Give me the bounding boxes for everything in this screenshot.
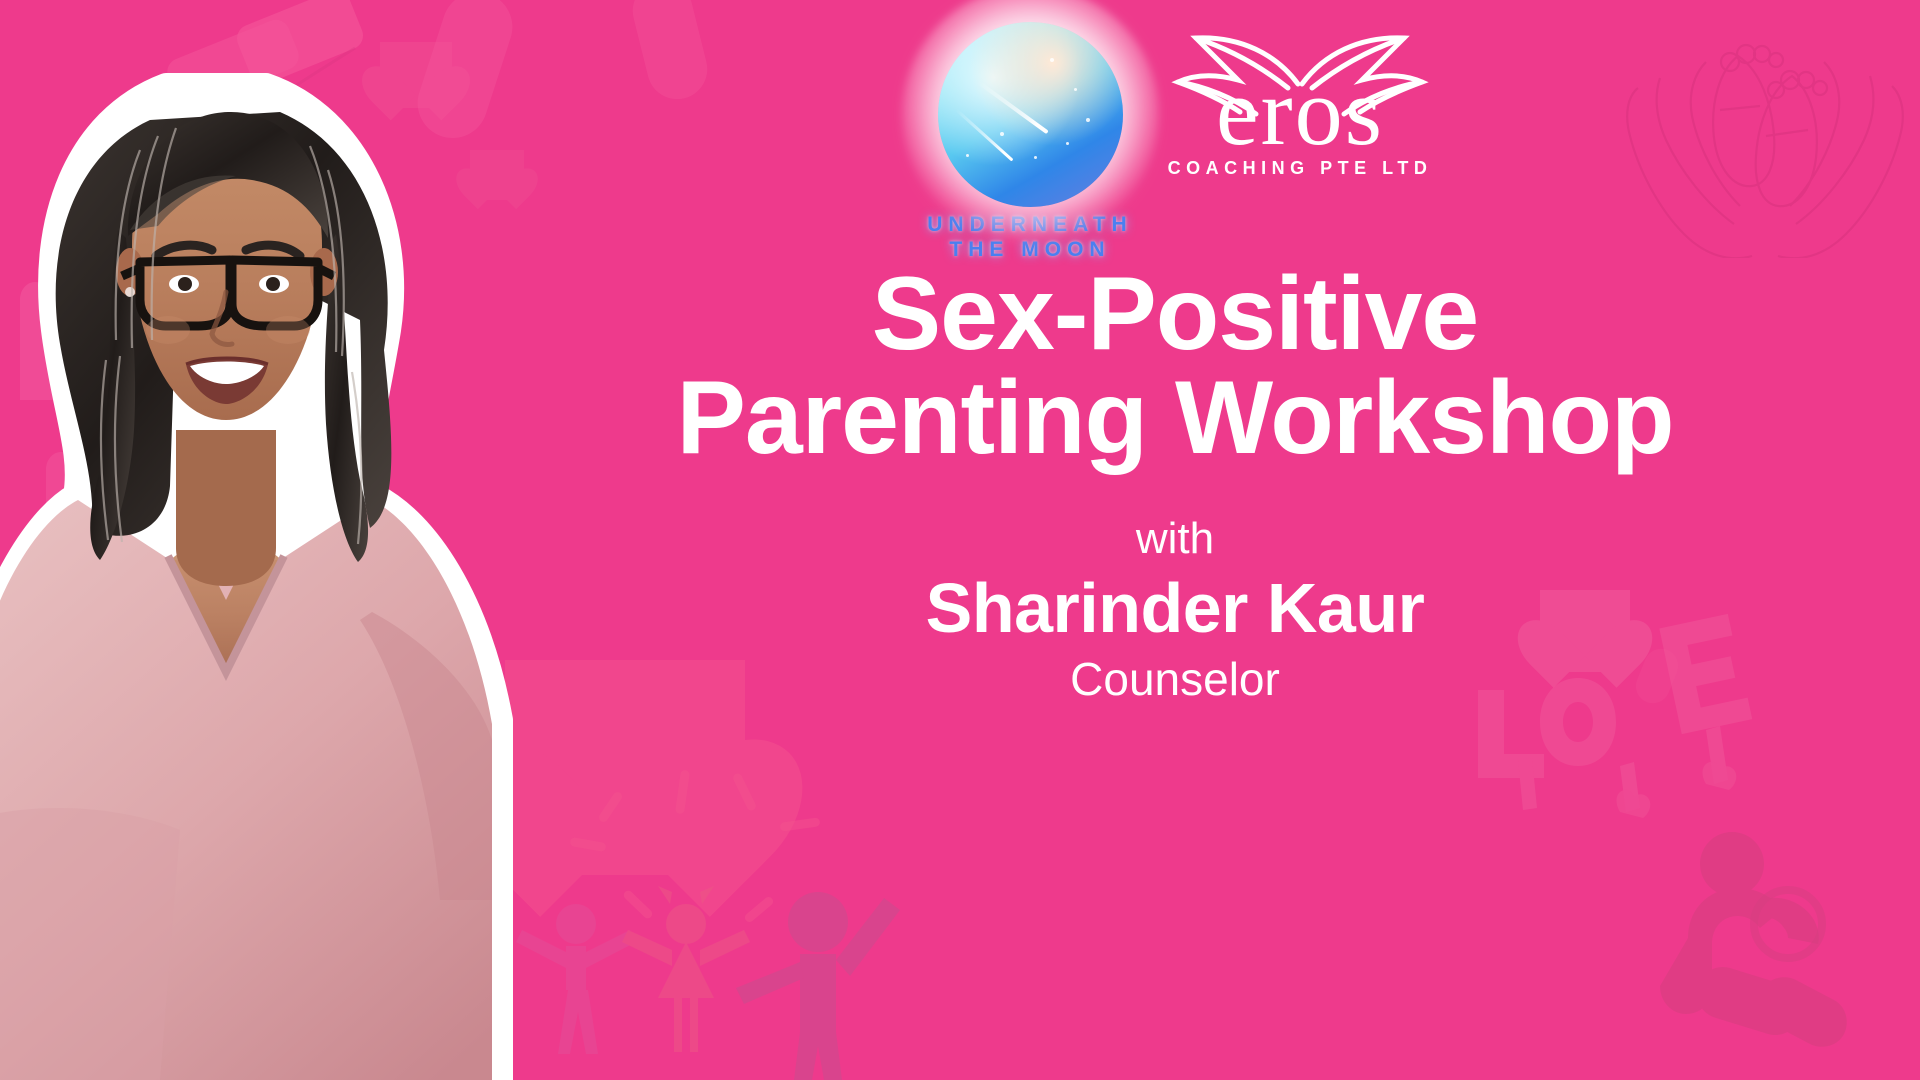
page-title: Sex-Positive Parenting Workshop [430,262,1920,470]
family-silhouette-icon [500,880,980,1080]
hands-cradling-baby-feet-icon [1610,18,1920,258]
with-label: with [430,514,1920,564]
angel-wings-icon [1130,28,1470,148]
parent-holding-child-icon [1658,828,1908,1058]
eros-coaching-logo: eros COACHING PTE LTD [1130,28,1470,179]
main-text-block: Sex-Positive Parenting Workshop with Sha… [430,262,1920,706]
logo-row: UNDERNEATH THE MOON eros COACHING PTE LT… [880,22,1500,252]
glowing-moon-sphere-icon [938,22,1123,207]
title-line-1: Sex-Positive [430,262,1920,366]
promotional-poster: UNDERNEATH THE MOON eros COACHING PTE LT… [0,0,1920,1080]
speaker-role: Counselor [430,652,1920,706]
speaker-name: Sharinder Kaur [430,568,1920,648]
eros-tagline: COACHING PTE LTD [1130,158,1470,179]
ribbon-shape [626,0,713,105]
title-line-2: Parenting Workshop [430,366,1920,470]
